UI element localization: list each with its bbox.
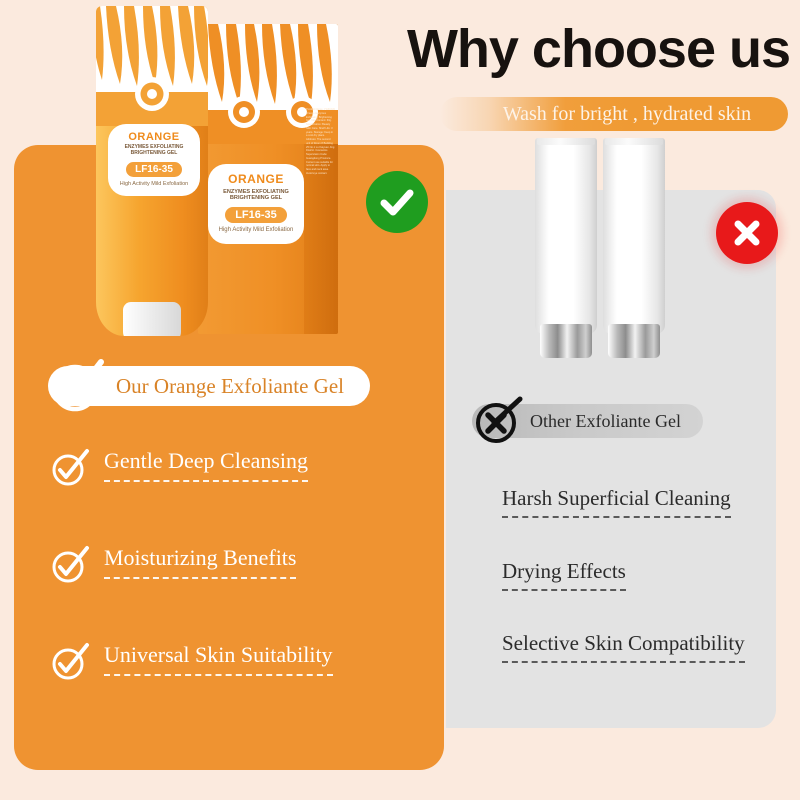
our-feature-label: Universal Skin Suitability: [104, 642, 333, 676]
tube-label: ORANGE ENZYMES EXFOLIATING BRIGHTENING G…: [108, 124, 200, 196]
our-feature-item: Universal Skin Suitability: [50, 642, 333, 682]
white-tube-cap: [540, 324, 592, 358]
our-feature-item: Moisturizing Benefits: [50, 545, 296, 585]
tube-label-claim: High Activity Mild Exfoliation: [110, 181, 198, 188]
circled-check-icon: [50, 642, 90, 682]
product-box: ORANGE ENZYMES EXFOLIATING BRIGHTENING G…: [198, 24, 338, 334]
subtitle-banner: Wash for bright , hydrated skin: [440, 97, 788, 131]
green-check-badge-icon: [366, 171, 428, 233]
our-product-heading-row: Our Orange Exfoliante Gel: [48, 366, 370, 406]
other-feature-item: Selective Skin Compatibility: [502, 631, 745, 656]
other-feature-label: Harsh Superficial Cleaning: [502, 486, 731, 518]
box-label: ORANGE ENZYMES EXFOLIATING BRIGHTENING G…: [208, 164, 304, 244]
infographic-canvas: Why choose us Wash for bright , hydrated…: [0, 0, 800, 800]
our-product-heading-text: Our Orange Exfoliante Gel: [116, 374, 344, 399]
box-label-code: LF16-35: [225, 207, 287, 223]
our-feature-label: Moisturizing Benefits: [104, 545, 296, 579]
box-label-description: ENZYMES EXFOLIATING BRIGHTENING GEL: [210, 189, 302, 202]
product-tube: ORANGE ENZYMES EXFOLIATING BRIGHTENING G…: [96, 6, 208, 336]
other-product-image: [535, 138, 675, 353]
plain-white-tube: [535, 138, 597, 334]
our-feature-item: Gentle Deep Cleansing: [50, 448, 308, 488]
tube-label-code: LF16-35: [126, 162, 182, 177]
tube-label-brand: ORANGE: [110, 131, 198, 143]
other-feature-item: Drying Effects: [502, 559, 626, 584]
other-feature-item: Harsh Superficial Cleaning: [502, 486, 731, 511]
box-label-brand: ORANGE: [210, 172, 302, 186]
circled-cross-icon: [472, 395, 524, 447]
other-feature-label: Drying Effects: [502, 559, 626, 591]
our-feature-label: Gentle Deep Cleansing: [104, 448, 308, 482]
subtitle-text: Wash for bright , hydrated skin: [477, 103, 751, 126]
circled-check-icon: [48, 357, 106, 415]
white-tube-cap: [608, 324, 660, 358]
red-cross-badge-icon: [716, 202, 778, 264]
circled-check-icon: [50, 448, 90, 488]
other-product-heading-row: Other Exfoliante Gel: [472, 404, 703, 438]
tube-leaf-pattern-icon: [96, 6, 208, 126]
page-title: Why choose us: [370, 22, 790, 76]
tube-label-description: ENZYMES EXFOLIATING BRIGHTENING GEL: [110, 145, 198, 157]
circled-check-icon: [50, 545, 90, 585]
our-product-image: ORANGE ENZYMES EXFOLIATING BRIGHTENING G…: [78, 0, 378, 346]
box-ingredients-text: Product Name: YGKCUK Orange Enzymes Exfo…: [306, 108, 335, 298]
other-product-heading-text: Other Exfoliante Gel: [530, 411, 681, 432]
other-feature-label: Selective Skin Compatibility: [502, 631, 745, 663]
tube-cap: [123, 302, 181, 336]
plain-white-tube: [603, 138, 665, 334]
box-label-claim: High Activity Mild Exfoliation: [210, 227, 302, 234]
